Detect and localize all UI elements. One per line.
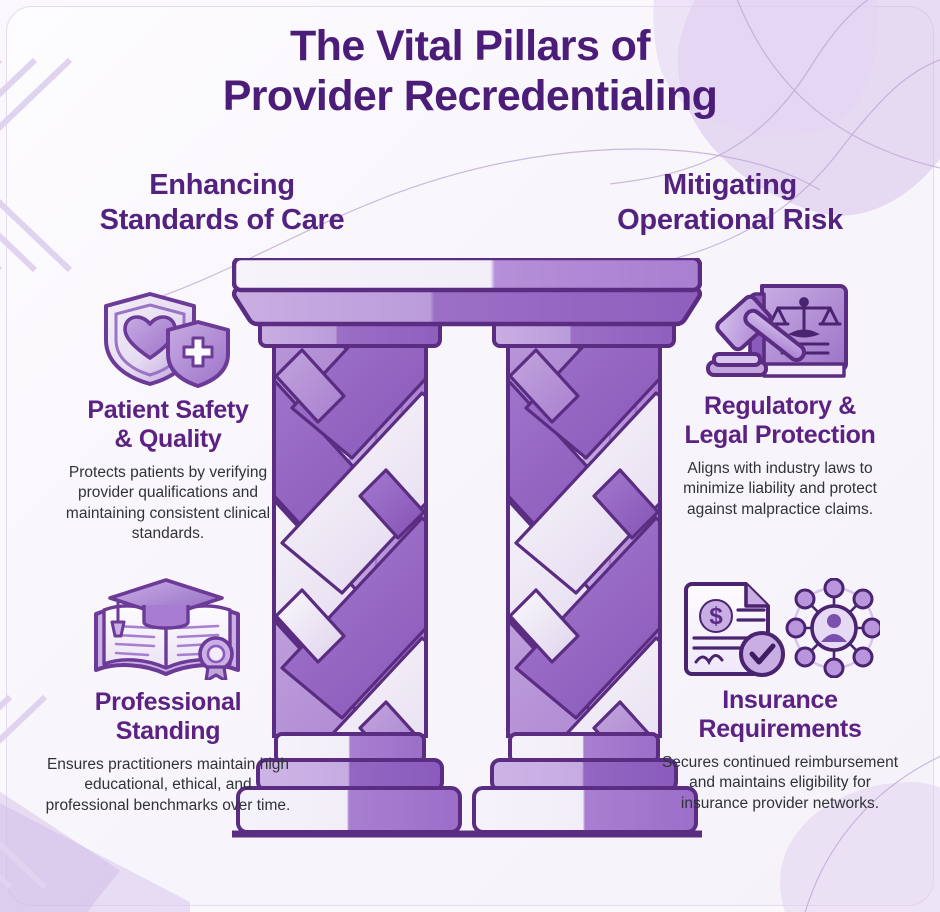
feature-heading-line-1: Professional bbox=[95, 688, 241, 716]
feature-body: Aligns with industry laws to minimize li… bbox=[668, 459, 893, 520]
svg-text:$: $ bbox=[709, 603, 723, 630]
feature-heading-line-1: Regulatory & bbox=[704, 392, 856, 420]
column-heading-left-line-1: Enhancing bbox=[22, 168, 422, 203]
feature-body: Protects patients by verifying provider … bbox=[46, 463, 291, 545]
feature-heading-line-1: Insurance bbox=[722, 686, 837, 714]
column-heading-right: Mitigating Operational Risk bbox=[530, 168, 930, 238]
feature-patient-safety-quality: Patient Safety & Quality Protects patien… bbox=[18, 286, 318, 545]
column-heading-left: Enhancing Standards of Care bbox=[22, 168, 422, 238]
feature-insurance-requirements: $ bbox=[630, 576, 930, 814]
shield-heart-medical-cross-icon bbox=[18, 286, 318, 388]
network-diagram bbox=[787, 579, 880, 677]
feature-heading: Insurance Requirements bbox=[630, 686, 930, 744]
gavel-law-book-scales-icon bbox=[630, 282, 930, 384]
page-title-line-1: The Vital Pillars of bbox=[0, 22, 940, 72]
column-heading-left-line-2: Standards of Care bbox=[22, 203, 422, 238]
feature-heading-line-2: Legal Protection bbox=[684, 421, 875, 449]
feature-heading: Patient Safety & Quality bbox=[18, 396, 318, 454]
feature-professional-standing: Professional Standing Ensures practition… bbox=[18, 578, 318, 816]
feature-heading-line-2: Standing bbox=[116, 717, 221, 745]
graduation-cap-book-award-icon bbox=[18, 578, 318, 680]
feature-body: Secures continued reimbursement and main… bbox=[658, 753, 903, 814]
page-title-line-2: Provider Recredentialing bbox=[0, 72, 940, 122]
page-title: The Vital Pillars of Provider Recredenti… bbox=[0, 22, 940, 122]
feature-body: Ensures practitioners maintain high educ… bbox=[46, 755, 291, 816]
feature-heading: Professional Standing bbox=[18, 688, 318, 746]
invoice-check-network-icon: $ bbox=[630, 576, 930, 678]
feature-heading: Regulatory & Legal Protection bbox=[630, 392, 930, 450]
infographic-canvas: The Vital Pillars of Provider Recredenti… bbox=[0, 0, 940, 912]
feature-regulatory-legal-protection: Regulatory & Legal Protection Aligns wit… bbox=[630, 282, 930, 520]
feature-heading-line-1: Patient Safety bbox=[87, 396, 248, 424]
column-heading-right-line-2: Operational Risk bbox=[530, 203, 930, 238]
column-heading-right-line-1: Mitigating bbox=[530, 168, 930, 203]
feature-heading-line-2: Requirements bbox=[698, 715, 861, 743]
feature-heading-line-2: & Quality bbox=[114, 425, 221, 453]
